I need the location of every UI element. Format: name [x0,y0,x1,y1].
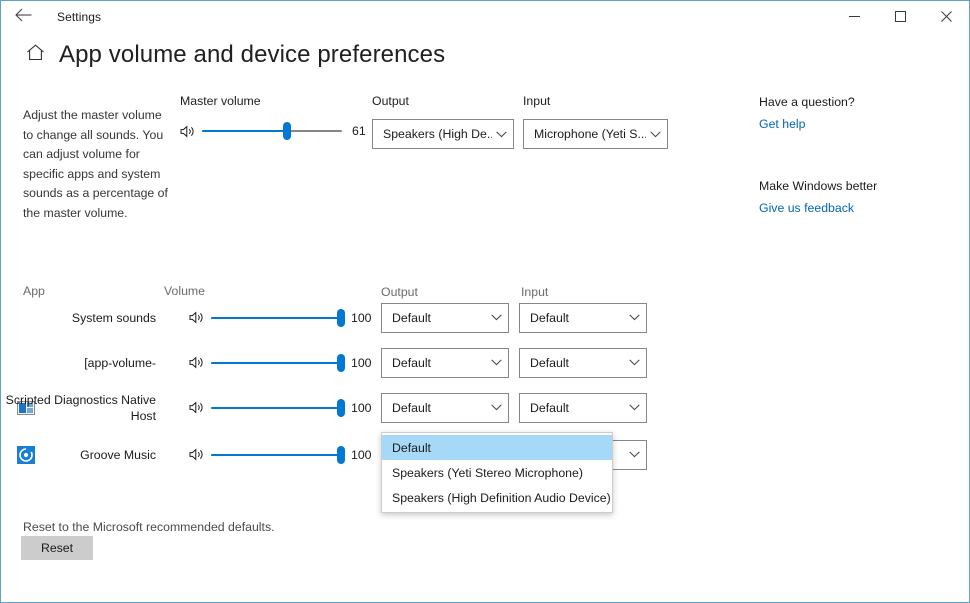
app-output-value: Default [392,356,487,370]
get-help-link[interactable]: Get help [759,117,959,131]
master-input-block: Input Microphone (Yeti S... [523,94,668,149]
app-volume-row: 100 [189,443,375,467]
app-input-value: Default [530,356,625,370]
reset-button[interactable]: Reset [21,536,93,560]
app-volume-row: 100 [189,306,375,330]
app-output-dropdown[interactable]: Default [381,303,509,333]
app-volume-value: 100 [351,401,375,415]
chevron-down-icon [496,131,507,138]
minimize-icon [849,11,860,22]
window-title: Settings [57,10,101,24]
master-output-block: Output Speakers (High De... [372,94,514,149]
chevron-down-icon [650,131,661,138]
speaker-icon [189,311,211,324]
speaker-icon [189,356,211,369]
table-row: System sounds100DefaultDefault [1,295,701,340]
page-title: App volume and device preferences [59,41,445,69]
home-button[interactable] [11,44,59,66]
app-volume-slider[interactable] [211,443,341,467]
give-feedback-link[interactable]: Give us feedback [759,201,959,215]
app-volume-value: 100 [351,311,375,325]
maximize-button[interactable] [877,1,923,32]
app-volume-value: 100 [351,448,375,462]
page-header: App volume and device preferences [1,41,445,69]
chevron-down-icon [629,451,640,458]
app-output-dropdown[interactable]: Default [381,393,509,423]
app-volume-value: 100 [351,356,375,370]
master-output-label: Output [372,94,514,108]
master-output-value: Speakers (High De... [383,127,492,141]
chevron-down-icon [629,404,640,411]
settings-window: Settings [0,0,970,603]
back-button[interactable] [1,1,45,32]
chevron-down-icon [491,314,502,321]
chevron-down-icon [629,314,640,321]
speaker-icon [180,125,202,138]
app-volume-slider[interactable] [211,396,341,420]
back-arrow-icon [15,8,32,25]
chevron-down-icon [629,359,640,366]
master-output-dropdown[interactable]: Speakers (High De... [372,119,514,149]
master-volume-label: Master volume [180,94,376,108]
app-output-value: Default [392,401,487,415]
window-controls [831,1,969,32]
master-input-dropdown[interactable]: Microphone (Yeti S... [523,119,668,149]
dropdown-option[interactable]: Speakers (High Definition Audio Device) [382,485,612,510]
help-column: Have a question? Get help Make Windows b… [759,95,959,215]
app-name: [app-volume- [1,355,156,371]
app-volume-slider[interactable] [211,351,341,375]
master-volume-slider[interactable] [202,119,342,143]
app-name: System sounds [1,310,156,326]
master-volume-section: Master volume 61 [180,94,376,143]
maximize-icon [895,11,906,22]
app-input-dropdown[interactable]: Default [519,393,647,423]
master-volume-row: 61 [180,119,376,143]
chevron-down-icon [491,359,502,366]
title-bar: Settings [1,1,969,32]
app-input-value: Default [530,311,625,325]
chevron-down-icon [491,404,502,411]
app-input-dropdown[interactable]: Default [519,303,647,333]
app-volume-row: 100 [189,351,375,375]
app-input-dropdown[interactable]: Default [519,348,647,378]
app-name: Scripted Diagnostics Native Host [1,392,156,424]
master-input-value: Microphone (Yeti S... [534,127,646,141]
reset-description: Reset to the Microsoft recommended defau… [23,520,275,534]
minimize-button[interactable] [831,1,877,32]
app-volume-slider[interactable] [211,306,341,330]
speaker-icon [189,448,211,461]
speaker-icon [189,401,211,414]
app-output-value: Default [392,311,487,325]
app-volume-row: 100 [189,396,375,420]
master-input-label: Input [523,94,668,108]
table-row: [app-volume-100DefaultDefault [1,340,701,385]
feedback-heading: Make Windows better [759,179,959,193]
app-name: Groove Music [1,447,156,463]
dropdown-option[interactable]: Default [382,435,612,460]
description-text: Adjust the master volume to change all s… [23,106,175,223]
dropdown-option[interactable]: Speakers (Yeti Stereo Microphone) [382,460,612,485]
home-icon [26,44,45,66]
help-question-heading: Have a question? [759,95,959,109]
app-output-dropdown[interactable]: Default [381,348,509,378]
output-dropdown-list[interactable]: DefaultSpeakers (Yeti Stereo Microphone)… [381,432,613,513]
close-button[interactable] [923,1,969,32]
close-icon [941,11,952,22]
table-row: Scripted Diagnostics Native Host100Defau… [1,385,701,430]
app-input-value: Default [530,401,625,415]
